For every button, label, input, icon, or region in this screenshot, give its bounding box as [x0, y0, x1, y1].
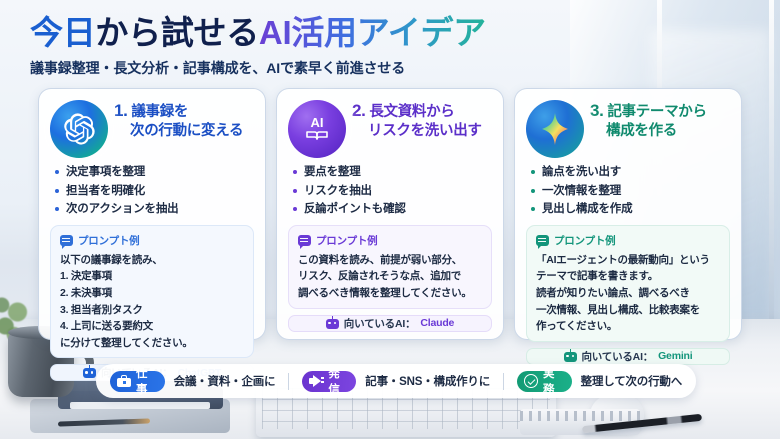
robot-icon: [83, 366, 96, 379]
card-2-header: AI 2. 長文資料から リスクを洗い出す: [288, 99, 492, 158]
card-1-bullet-3: 次のアクションを抽出: [55, 200, 254, 219]
page-title: 今日から試せるAI活用アイデア: [30, 14, 486, 52]
poster-canvas: 今日から試せるAI活用アイデア 議事録整理・長文分析・記事構成を、AIで素早く前…: [0, 0, 780, 439]
title-segment-kyou: 今日: [30, 14, 95, 51]
card-1-bullet-2: 担当者を明確化: [55, 182, 254, 201]
card-3-bullet-1: 論点を洗い出す: [531, 163, 730, 182]
card-2-prompt-box: プロンプト例 この資料を読み、前提が弱い部分、 リスク、反論されそうな点、追加で…: [288, 225, 492, 309]
robot-icon: [326, 317, 339, 330]
speech-bubble-icon: [536, 235, 549, 246]
card-2-title-line-1: 2. 長文資料から: [352, 100, 482, 122]
card-1-title-line-2: 次の行動に変える: [114, 122, 243, 141]
card-3-ai-row: 向いているAI： Gemini: [526, 348, 730, 365]
footer-item-shigoto[interactable]: 仕事 会議・資料・企画に: [110, 371, 275, 392]
card-2-prompt-label: プロンプト例: [316, 233, 378, 248]
card-1-prompt-label-row: プロンプト例: [60, 233, 244, 248]
title-segment-ai: AI活用アイデア: [259, 14, 486, 51]
card-3-prompt-label-row: プロンプト例: [536, 233, 720, 248]
card-2-heading: 2. 長文資料から リスクを洗い出す: [352, 99, 482, 142]
card-3-title-line-1: 3. 記事テーマから: [590, 100, 707, 122]
card-1-title-line-1: 1. 議事録を: [114, 100, 243, 122]
footer-pill-jitsumu: 実務: [517, 371, 572, 392]
footer-pill-label-1: 仕事: [136, 365, 154, 397]
svg-text:AI: AI: [311, 115, 324, 130]
card-3-heading: 3. 記事テーマから 構成を作る: [590, 99, 707, 142]
card-3-bullets: 論点を洗い出す 一次情報を整理 見出し構成を作成: [531, 163, 730, 219]
card-1[interactable]: 1. 議事録を 次の行動に変える 決定事項を整理 担当者を明確化 次のアクション…: [38, 88, 266, 340]
footer-desc-1: 会議・資料・企画に: [174, 373, 276, 389]
card-2-prompt-label-row: プロンプト例: [298, 233, 482, 248]
card-1-prompt-box: プロンプト例 以下の議事録を読み、 1. 決定事項 2. 未決事項 3. 担当者…: [50, 225, 254, 358]
megaphone-icon: [309, 374, 323, 388]
openai-logo-icon: [50, 100, 108, 158]
card-1-heading: 1. 議事録を 次の行動に変える: [114, 99, 243, 142]
card-2-ai-name: Claude: [420, 317, 454, 329]
card-2-number: 2.: [352, 101, 366, 120]
window-mullion-2: [769, 0, 774, 360]
check-circle-icon: [524, 374, 538, 388]
notebook-pages: [70, 402, 210, 409]
card-2-ai-row: 向いているAI： Claude: [288, 315, 492, 332]
footer-pill-label-2: 発信: [328, 365, 345, 397]
ai-book-icon: AI: [288, 100, 346, 158]
card-1-prompt-label: プロンプト例: [78, 233, 140, 248]
card-list: 1. 議事録を 次の行動に変える 決定事項を整理 担当者を明確化 次のアクション…: [38, 88, 742, 340]
card-3-number: 3.: [590, 101, 604, 120]
speech-bubble-icon: [298, 235, 311, 246]
card-3-header: 3. 記事テーマから 構成を作る: [526, 99, 730, 158]
card-3-prompt-label: プロンプト例: [554, 233, 616, 248]
card-3-title-line-2: 構成を作る: [590, 122, 707, 141]
card-3-ai-name: Gemini: [658, 350, 692, 362]
footer-item-hasshin[interactable]: 発信 記事・SNS・構成作りに: [302, 371, 490, 392]
card-1-header: 1. 議事録を 次の行動に変える: [50, 99, 254, 158]
card-2-bullet-3: 反論ポイントも確認: [293, 200, 492, 219]
page-subtitle: 議事録整理・長文分析・記事構成を、AIで素早く前進させる: [30, 58, 486, 78]
card-1-number: 1.: [114, 101, 128, 120]
footer-divider-2: [503, 373, 504, 390]
gemini-sparkle-icon: [526, 100, 584, 158]
card-3-bullet-2: 一次情報を整理: [531, 182, 730, 201]
card-2-ai-label: 向いているAI：: [344, 316, 416, 331]
card-1-bullets: 決定事項を整理 担当者を明確化 次のアクションを抽出: [55, 163, 254, 219]
card-3-title-text-1: 記事テーマから: [607, 104, 706, 120]
card-3-prompt-body: 「AIエージェントの最新動向」という テーマで記事を書きます。 読者が知りたい論…: [536, 252, 720, 335]
card-1-title-text-1: 議事録を: [131, 104, 188, 120]
card-3-bullet-3: 見出し構成を作成: [531, 200, 730, 219]
footer-pill-label-3: 実務: [543, 365, 561, 397]
footer-pill-shigoto: 仕事: [110, 371, 165, 392]
card-2-bullets: 要点を整理 リスクを抽出 反論ポイントも確認: [293, 163, 492, 219]
footer-desc-2: 記事・SNS・構成作りに: [365, 373, 490, 389]
card-1-prompt-body: 以下の議事録を読み、 1. 決定事項 2. 未決事項 3. 担当者別タスク 4.…: [60, 252, 244, 351]
robot-icon: [564, 350, 577, 363]
card-2-bullet-2: リスクを抽出: [293, 182, 492, 201]
card-2-title-text-1: 長文資料から: [369, 104, 454, 120]
card-1-bullet-1: 決定事項を整理: [55, 163, 254, 182]
speech-bubble-icon: [60, 235, 73, 246]
footer-divider-1: [288, 373, 289, 390]
footer-bar: 仕事 会議・資料・企画に 発信 記事・SNS・構成作りに 実務 整理して次の行動…: [96, 364, 696, 398]
briefcase-icon: [117, 374, 131, 388]
card-3[interactable]: 3. 記事テーマから 構成を作る 論点を洗い出す 一次情報を整理 見出し構成を作…: [514, 88, 742, 340]
footer-item-jitsumu[interactable]: 実務 整理して次の行動へ: [517, 371, 682, 392]
card-2[interactable]: AI 2. 長文資料から リスクを洗い出す 要点を整理 リスクを抽出 反論ポイン…: [276, 88, 504, 340]
card-2-prompt-body: この資料を読み、前提が弱い部分、 リスク、反論されそうな点、追加で 調べるべき情…: [298, 252, 482, 302]
card-3-prompt-box: プロンプト例 「AIエージェントの最新動向」という テーマで記事を書きます。 読…: [526, 225, 730, 342]
card-2-bullet-1: 要点を整理: [293, 163, 492, 182]
card-2-title-line-2: リスクを洗い出す: [352, 122, 482, 141]
footer-pill-hasshin: 発信: [302, 371, 356, 392]
title-segment-kara: から試せる: [95, 14, 259, 51]
card-3-ai-label: 向いているAI：: [582, 349, 654, 364]
footer-desc-3: 整理して次の行動へ: [581, 373, 682, 389]
header: 今日から試せるAI活用アイデア 議事録整理・長文分析・記事構成を、AIで素早く前…: [30, 14, 486, 78]
